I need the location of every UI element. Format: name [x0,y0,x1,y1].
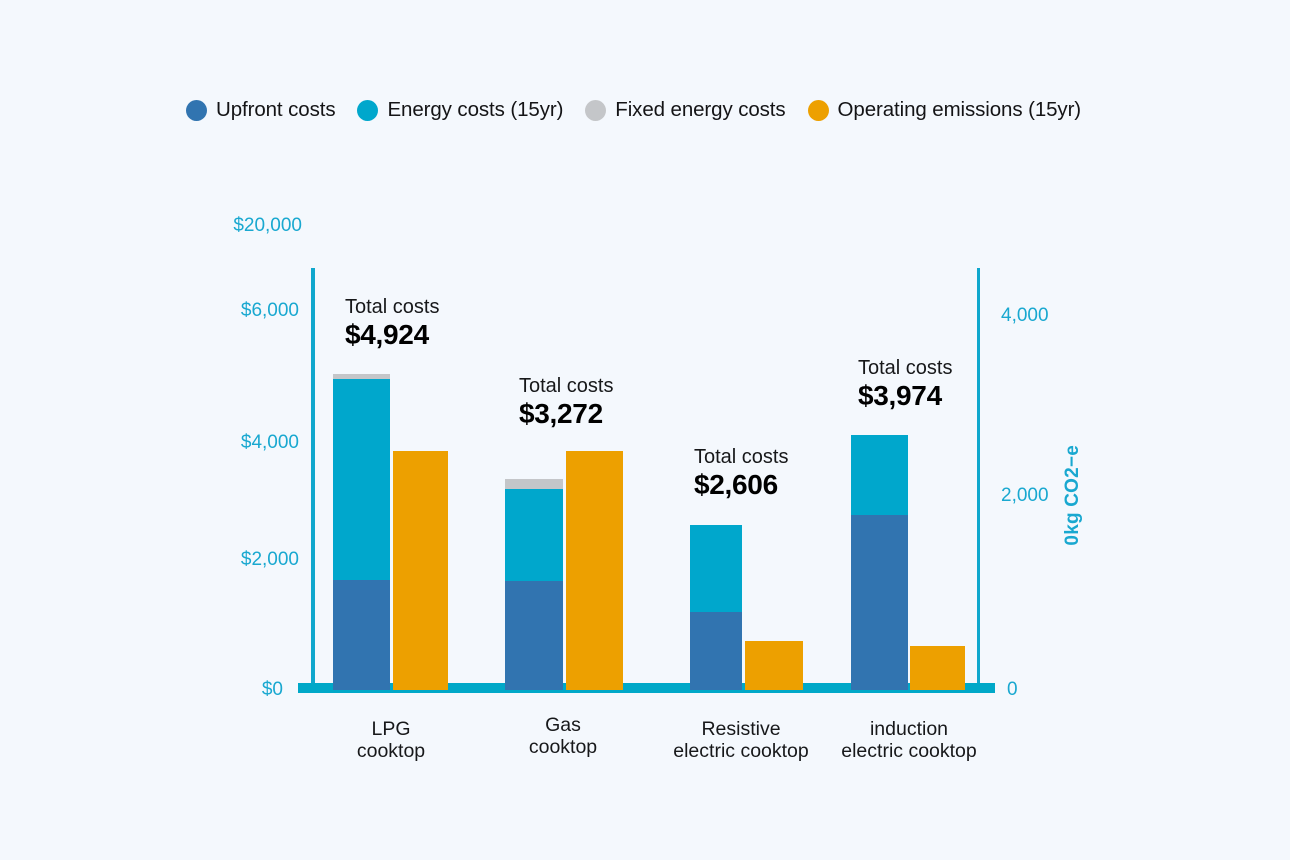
total-costs-caption-gas: Total costs [519,374,613,398]
right-axis-tick-0: 0 [1007,679,1018,701]
category-label-induction-line1: induction [841,718,976,740]
total-costs-caption-lpg: Total costs [345,295,439,319]
left-axis-line [311,268,315,685]
bar-emissions-gas[interactable] [566,451,623,690]
legend-item-energy-costs[interactable]: Energy costs (15yr) [357,98,563,122]
category-label-resistive-line1: Resistive [673,718,808,740]
bar-segment-upfront-lpg[interactable] [333,580,390,690]
bar-segment-energy-resistive[interactable] [690,525,742,612]
chart-container: Upfront costs Energy costs (15yr) Fixed … [0,0,1290,860]
bar-emissions-induction[interactable] [910,646,965,690]
legend-swatch-icon-upfront [186,100,207,121]
total-costs-annotation-gas: Total costs $3,272 [519,374,613,430]
total-costs-value-resistive: $2,606 [694,469,788,501]
legend-label-fixed: Fixed energy costs [615,98,785,122]
category-label-resistive: Resistive electric cooktop [673,718,808,762]
legend-swatch-icon-emissions [808,100,829,121]
right-axis-line [977,268,980,685]
legend-item-operating-emissions[interactable]: Operating emissions (15yr) [808,98,1082,122]
bar-segment-energy-lpg[interactable] [333,379,390,580]
bar-segment-upfront-resistive[interactable] [690,612,742,690]
left-axis-tick-2000: $2,000 [241,549,299,571]
total-costs-value-induction: $3,974 [858,380,952,412]
total-costs-annotation-resistive: Total costs $2,606 [694,445,788,501]
category-label-induction: induction electric cooktop [841,718,976,762]
bar-segment-energy-gas[interactable] [505,489,563,581]
bar-segment-fixed-energy-lpg[interactable] [333,374,390,379]
left-axis-tick-4000: $4,000 [241,432,299,454]
legend-label-upfront: Upfront costs [216,98,335,122]
legend-swatch-icon-energy [357,100,378,121]
category-label-lpg-line1: LPG [357,718,425,740]
legend-swatch-icon-fixed [585,100,606,121]
category-label-lpg-line2: cooktop [357,740,425,762]
category-label-resistive-line2: electric cooktop [673,740,808,762]
right-axis-tick-4000: 4,000 [1001,305,1049,327]
category-label-gas-line1: Gas [529,714,597,736]
legend-label-energy: Energy costs (15yr) [387,98,563,122]
category-label-lpg: LPG cooktop [357,718,425,762]
left-axis-tick-20000: $20,000 [233,215,302,237]
bar-segment-energy-induction[interactable] [851,435,908,515]
total-costs-annotation-induction: Total costs $3,974 [858,356,952,412]
right-axis-title: 0kg CO2−e [1062,445,1084,546]
chart-legend: Upfront costs Energy costs (15yr) Fixed … [186,98,1103,122]
total-costs-value-lpg: $4,924 [345,319,439,351]
bar-segment-upfront-induction[interactable] [851,515,908,690]
right-axis-tick-2000: 2,000 [1001,485,1049,507]
category-label-gas-line2: cooktop [529,736,597,758]
left-axis-tick-6000: $6,000 [241,300,299,322]
legend-item-upfront-costs[interactable]: Upfront costs [186,98,335,122]
total-costs-caption-resistive: Total costs [694,445,788,469]
legend-item-fixed-energy-costs[interactable]: Fixed energy costs [585,98,785,122]
bar-segment-fixed-energy-gas[interactable] [505,479,563,489]
left-axis-tick-0: $0 [262,679,283,701]
bar-emissions-resistive[interactable] [745,641,803,690]
category-label-induction-line2: electric cooktop [841,740,976,762]
legend-label-emissions: Operating emissions (15yr) [838,98,1082,122]
total-costs-caption-induction: Total costs [858,356,952,380]
total-costs-value-gas: $3,272 [519,398,613,430]
category-label-gas: Gas cooktop [529,714,597,758]
bar-segment-upfront-gas[interactable] [505,581,563,690]
bar-emissions-lpg[interactable] [393,451,448,690]
total-costs-annotation-lpg: Total costs $4,924 [345,295,439,351]
